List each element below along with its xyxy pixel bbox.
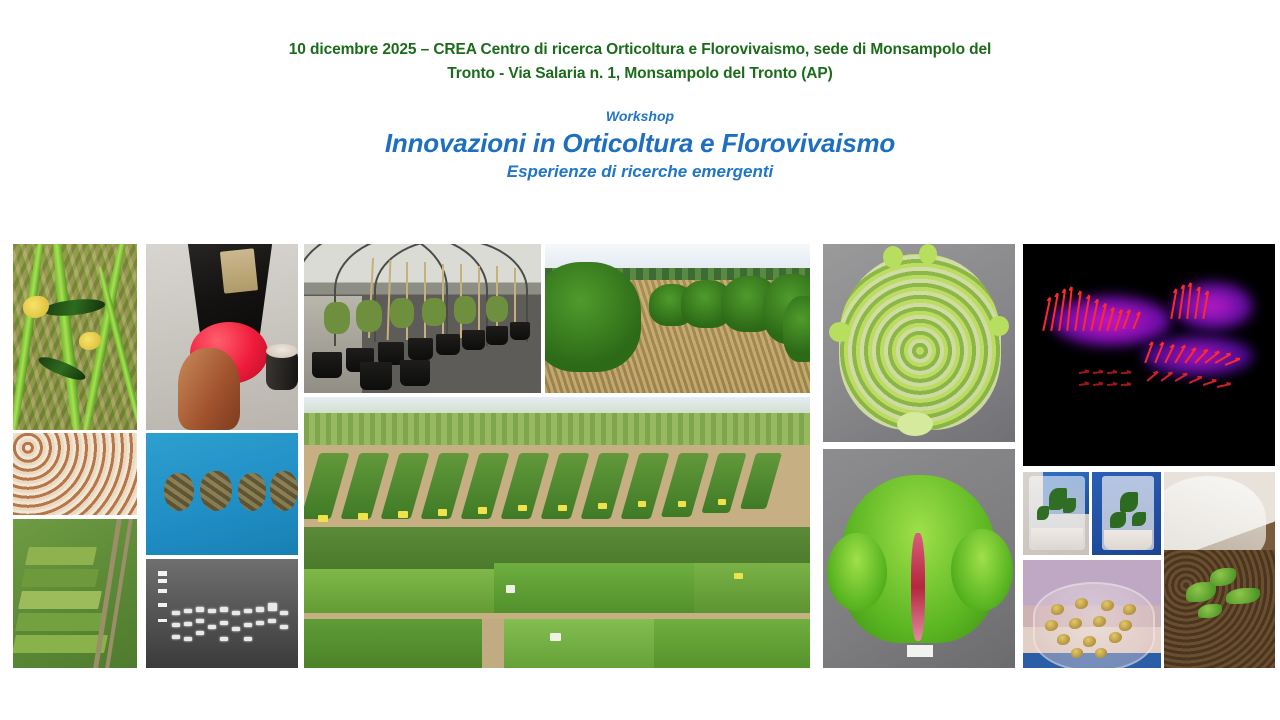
photo-collage: [0, 0, 1280, 720]
photo-red-rib-lettuce: [823, 449, 1015, 668]
photo-in-vitro-culture-1: [1023, 472, 1089, 555]
photo-artichoke-heads: [146, 433, 298, 555]
photo-frisee-endive: [823, 244, 1015, 442]
photo-greenhouse-pots: [304, 244, 541, 393]
photo-dna-gel: [146, 559, 298, 668]
photo-in-vitro-culture-2: [1092, 472, 1161, 555]
photo-aerial-plots: [13, 519, 137, 668]
photo-mixed-bean-seeds: [13, 433, 137, 515]
photo-pepper-field-mulch: [545, 244, 810, 393]
photo-zucchini-crop: [13, 244, 137, 430]
photo-seedling-soil: [1164, 472, 1275, 668]
photo-spectroradiometer: [146, 244, 298, 430]
photo-seed-petri-dish: [1023, 560, 1161, 668]
photo-trial-field: [304, 397, 810, 668]
photo-fluorescence-vectors: [1023, 244, 1275, 466]
